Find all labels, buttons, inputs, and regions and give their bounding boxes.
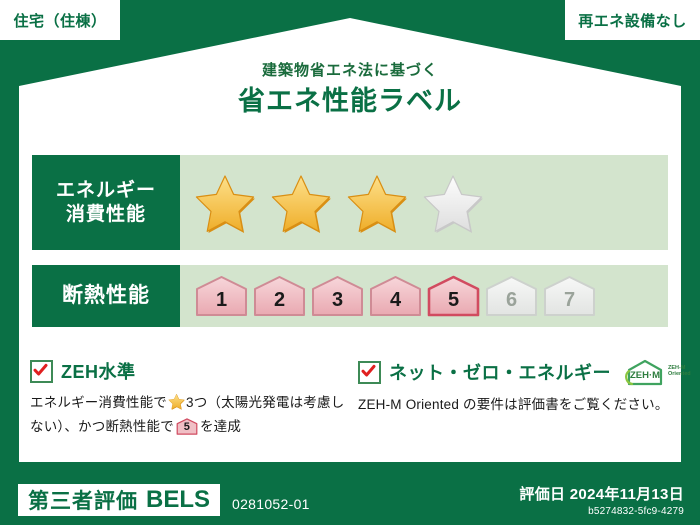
insulation-grade-2: 2 — [252, 275, 307, 317]
building-type-tag-label: 住宅（住棟） — [13, 10, 106, 31]
checkbox-checked-icon — [358, 361, 381, 384]
insulation-grade-6: 6 — [484, 275, 539, 317]
evaluation-date-label: 評価日 — [519, 486, 565, 503]
insulation-grade-3: 3 — [310, 275, 365, 317]
third-party-evaluation-label: 第三者評価 — [28, 485, 138, 515]
energy-performance-key-line2: 消費性能 — [66, 203, 146, 227]
energy-performance-row: エネルギー 消費性能 — [32, 155, 668, 250]
star-filled-icon — [168, 398, 185, 413]
net-zero-energy-description: ZEH-M Oriented の要件は評価書をご覧ください。 — [358, 395, 678, 416]
insulation-performance-key: 断熱性能 — [32, 265, 180, 327]
insulation-grade-number: 3 — [332, 290, 343, 317]
net-zero-energy-statement: ネット・ゼロ・エネルギー ZEH·M ZEH-M Oriented ZEH-M … — [358, 358, 678, 416]
star-filled-icon — [346, 172, 408, 234]
insulation-grade-7: 7 — [542, 275, 597, 317]
insulation-performance-grades: 1234567 — [180, 265, 668, 327]
zeh-level-heading: ZEH水準 — [30, 358, 350, 384]
star-empty-icon — [422, 172, 484, 234]
insulation-grade-4: 4 — [368, 275, 423, 317]
insulation-grade-5-inline-icon: 5 — [176, 418, 198, 435]
zeh-level-description: エネルギー消費性能で3つ（太陽光発電は考慮しない）、かつ断熱性能で5を達成 — [30, 393, 350, 438]
bels-number: 0281052-01 — [232, 496, 310, 512]
bels-logo-text: BELS — [146, 486, 210, 514]
insulation-grade-1: 1 — [194, 275, 249, 317]
insulation-grade-number: 7 — [564, 290, 575, 317]
insulation-performance-key-label: 断熱性能 — [62, 283, 150, 309]
title-block: 建築物省エネ法に基づく 省エネ性能ラベル — [0, 62, 700, 117]
energy-performance-key: エネルギー 消費性能 — [32, 155, 180, 250]
bels-badge: 第三者評価 BELS — [18, 484, 220, 516]
building-type-tag: 住宅（住棟） — [0, 0, 120, 40]
zeh-level-title: ZEH水準 — [61, 358, 136, 384]
insulation-grade-number: 2 — [274, 290, 285, 317]
renewable-equipment-tag-label: 再エネ設備なし — [578, 10, 687, 31]
star-filled-icon — [270, 172, 332, 234]
net-zero-energy-heading: ネット・ゼロ・エネルギー ZEH·M ZEH-M Oriented — [358, 358, 678, 386]
energy-performance-key-line1: エネルギー — [56, 179, 156, 203]
label-subtitle: 建築物省エネ法に基づく — [0, 62, 700, 80]
insulation-grade-5: 5 — [426, 275, 481, 317]
zeh-level-description-text: を達成 — [200, 419, 241, 434]
page-title: 省エネ性能ラベル — [0, 85, 700, 117]
energy-performance-label: 住宅（住棟） 再エネ設備なし 建築物省エネ法に基づく 省エネ性能ラベル エネルギ… — [0, 0, 700, 525]
net-zero-energy-title: ネット・ゼロ・エネルギー — [389, 359, 611, 385]
insulation-grade-number: 6 — [506, 290, 517, 317]
zeh-level-statement: ZEH水準 エネルギー消費性能で3つ（太陽光発電は考慮しない）、かつ断熱性能で5… — [30, 358, 350, 438]
evaluation-date: 評価日 2024年11月13日 — [519, 483, 684, 504]
evaluation-info: 評価日 2024年11月13日 b5274832-5fc9-4279 — [519, 483, 684, 517]
insulation-grade-number: 4 — [390, 290, 401, 317]
zeh-m-logo-icon: ZEH·M ZEH-M Oriented — [625, 358, 691, 386]
zeh-level-description-text: エネルギー消費性能で — [30, 395, 167, 410]
insulation-performance-row: 断熱性能 1234567 — [32, 265, 668, 327]
insulation-grade-number: 5 — [176, 418, 198, 435]
zeh-m-logo-sub-line2: Oriented — [668, 372, 691, 378]
energy-performance-stars — [180, 155, 668, 250]
insulation-grade-number: 5 — [448, 290, 459, 317]
svg-text:ZEH·M: ZEH·M — [630, 370, 660, 381]
star-filled-icon — [194, 172, 256, 234]
evaluation-date-value: 2024年11月13日 — [570, 486, 684, 503]
checkbox-checked-icon — [30, 360, 53, 383]
evaluation-id: b5274832-5fc9-4279 — [519, 506, 684, 517]
insulation-grade-number: 1 — [216, 290, 227, 317]
renewable-equipment-tag: 再エネ設備なし — [565, 0, 700, 40]
